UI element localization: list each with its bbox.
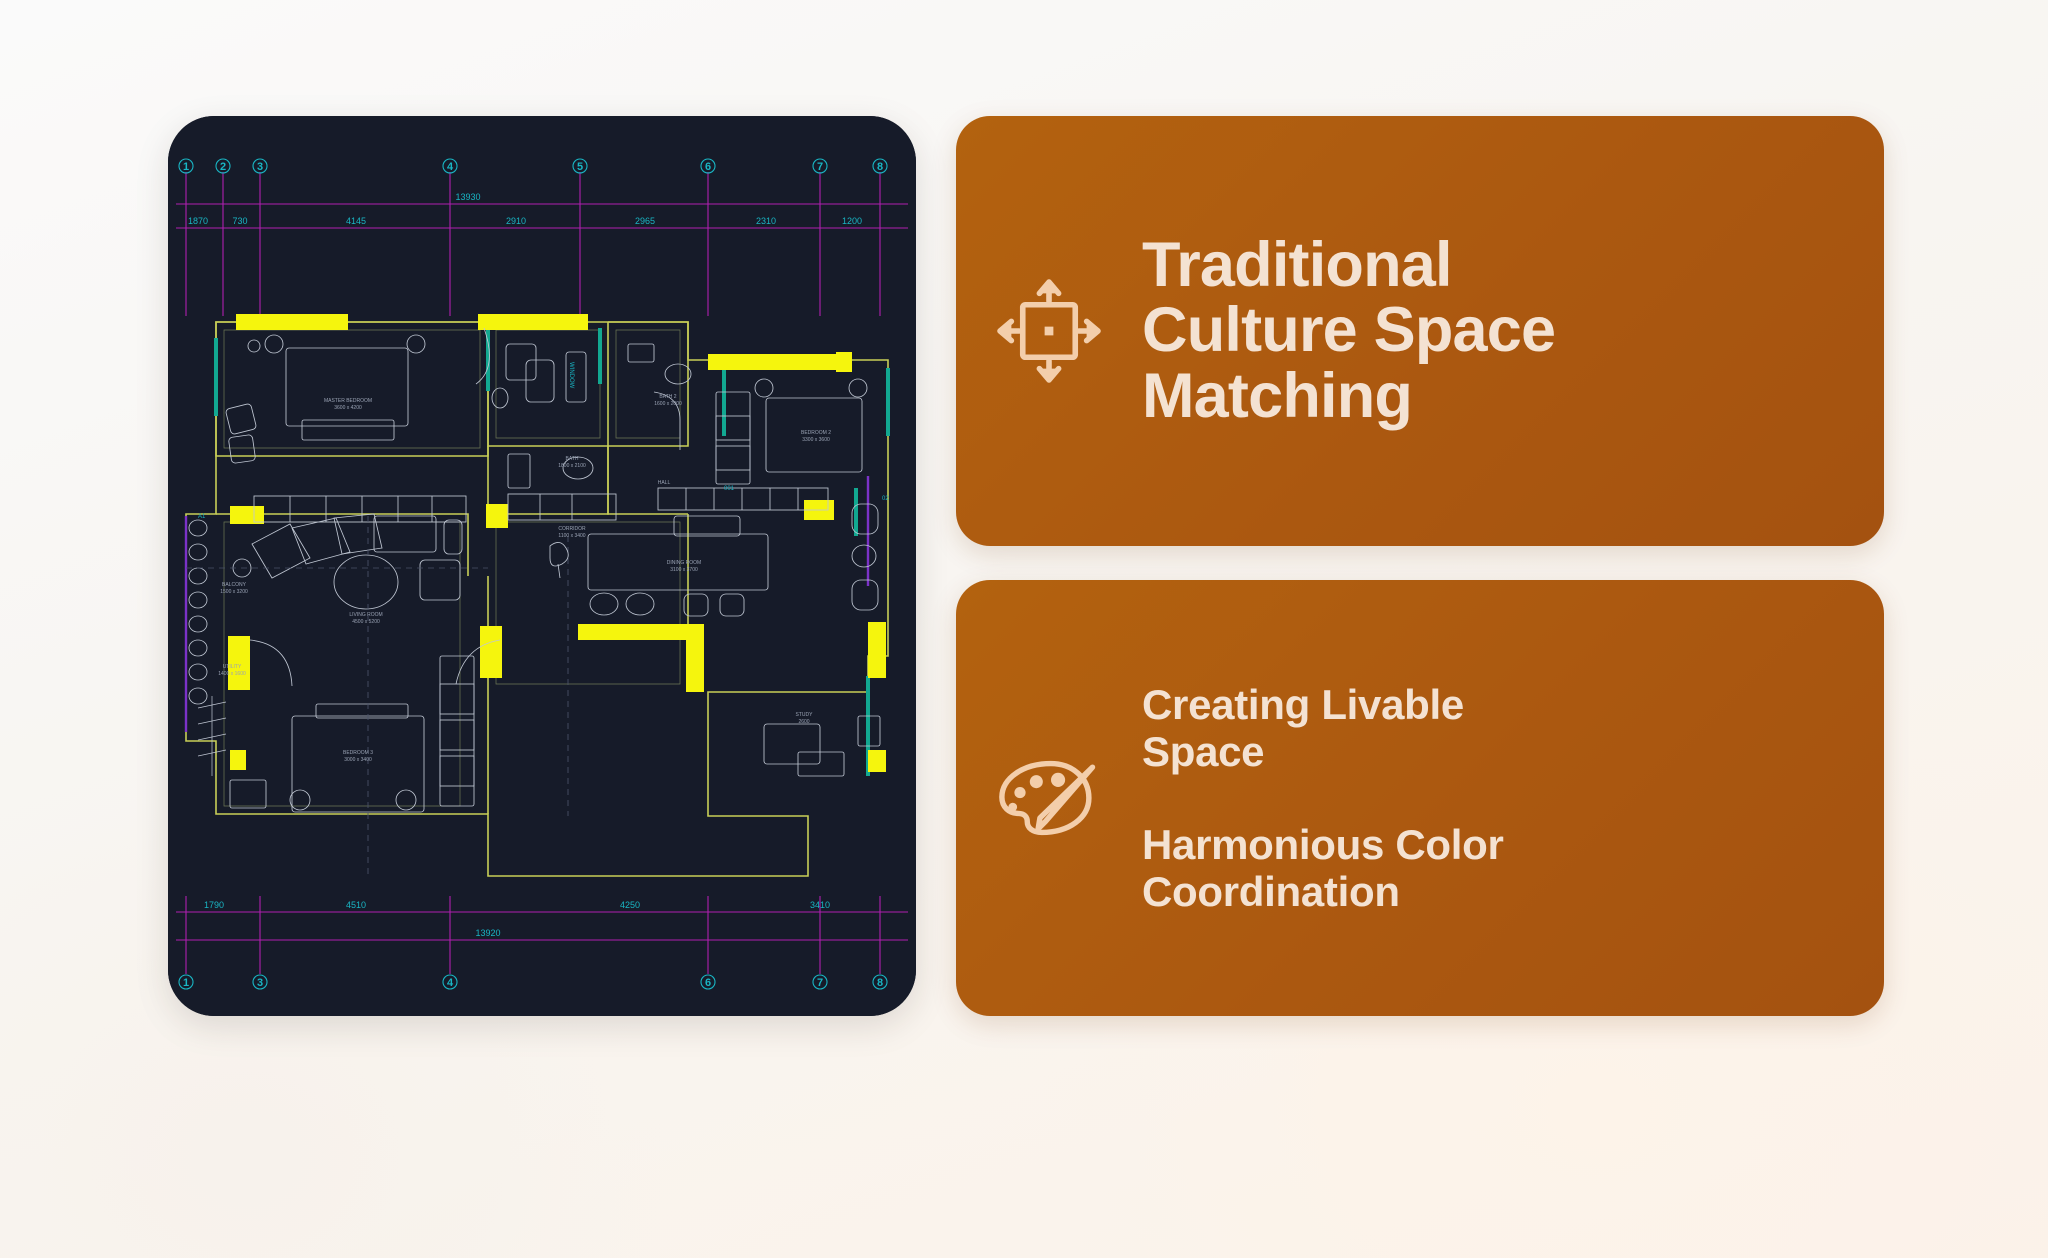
svg-text:UTILITY: UTILITY	[223, 664, 242, 670]
sub-block-livable-space: Creating Livable Space	[1142, 681, 1828, 775]
sub-line-4: Coordination	[1142, 868, 1828, 915]
svg-text:3100 x 3700: 3100 x 3700	[670, 567, 698, 573]
svg-text:4: 4	[447, 161, 454, 173]
svg-text:3: 3	[257, 161, 263, 173]
svg-text:3000 x 3400: 3000 x 3400	[344, 757, 372, 763]
svg-text:4: 4	[447, 977, 454, 989]
floor-plan-drawing: 12 34 56 78 13930 1870 730 4145 2910 296…	[168, 116, 916, 1016]
svg-text:3600 x 4200: 3600 x 4200	[334, 405, 362, 411]
card-traditional-culture-space-matching[interactable]: Traditional Culture Space Matching	[956, 116, 1884, 546]
svg-text:BALCONY: BALCONY	[222, 582, 247, 588]
svg-text:LIVING ROOM: LIVING ROOM	[349, 612, 382, 618]
palette-icon	[956, 740, 1142, 856]
svg-text:5: 5	[577, 161, 583, 173]
sub-line-3: Harmonious Color	[1142, 821, 1828, 868]
svg-text:A1: A1	[198, 514, 206, 520]
sub-line-1: Creating Livable	[1142, 681, 1828, 728]
svg-text:1: 1	[183, 977, 189, 989]
svg-text:8: 8	[877, 977, 883, 989]
svg-text:3: 3	[257, 977, 263, 989]
svg-text:1500 x 3200: 1500 x 3200	[220, 589, 248, 595]
svg-text:BEDROOM 2: BEDROOM 2	[801, 430, 831, 436]
svg-text:BATH 2: BATH 2	[659, 394, 676, 400]
card-body: Creating Livable Space Harmonious Color …	[1142, 681, 1884, 915]
svg-text:001: 001	[724, 486, 735, 492]
svg-text:1400 x 1600: 1400 x 1600	[218, 671, 246, 677]
svg-text:2600: 2600	[798, 719, 809, 725]
svg-text:1100 x 3400: 1100 x 3400	[558, 533, 585, 539]
svg-text:STUDY: STUDY	[796, 712, 814, 718]
svg-text:13920: 13920	[475, 928, 500, 938]
svg-text:4250: 4250	[620, 900, 640, 910]
svg-text:1: 1	[183, 161, 189, 173]
floor-plan-panel[interactable]: 12 34 56 78 13930 1870 730 4145 2910 296…	[168, 116, 916, 1016]
move-expand-icon	[956, 275, 1142, 387]
svg-text:WINDOW: WINDOW	[568, 362, 574, 389]
svg-text:2910: 2910	[506, 216, 526, 226]
svg-text:1600 x 2000: 1600 x 2000	[654, 401, 682, 407]
svg-text:2: 2	[220, 161, 226, 173]
svg-text:2965: 2965	[635, 216, 655, 226]
card-title-line-3: Matching	[1142, 364, 1828, 430]
sub-block-color-coordination: Harmonious Color Coordination	[1142, 821, 1828, 915]
svg-text:DINING ROOM: DINING ROOM	[667, 560, 701, 566]
svg-text:BATH: BATH	[566, 456, 579, 462]
svg-text:6: 6	[705, 161, 711, 173]
card-harmonious-color-coordination[interactable]: Creating Livable Space Harmonious Color …	[956, 580, 1884, 1016]
card-title-line-1: Traditional	[1142, 233, 1828, 299]
svg-text:BEDROOM 3: BEDROOM 3	[343, 750, 373, 756]
svg-text:7: 7	[817, 161, 823, 173]
svg-text:1790: 1790	[204, 900, 224, 910]
svg-text:730: 730	[232, 216, 247, 226]
svg-text:4500 x 5200: 4500 x 5200	[352, 619, 380, 625]
svg-text:02: 02	[882, 496, 889, 502]
svg-text:1870: 1870	[188, 216, 208, 226]
card-title-line-2: Culture Space	[1142, 298, 1828, 364]
svg-text:MASTER BEDROOM: MASTER BEDROOM	[324, 398, 372, 404]
svg-text:3300 x 3600: 3300 x 3600	[802, 437, 830, 443]
svg-text:2310: 2310	[756, 216, 776, 226]
card-body: Traditional Culture Space Matching	[1142, 233, 1884, 430]
svg-text:8: 8	[877, 161, 883, 173]
svg-text:7: 7	[817, 977, 823, 989]
svg-text:4145: 4145	[346, 216, 366, 226]
svg-text:4510: 4510	[346, 900, 366, 910]
sub-line-2: Space	[1142, 728, 1828, 775]
svg-text:HALL: HALL	[658, 480, 671, 486]
svg-text:13930: 13930	[455, 192, 480, 202]
svg-text:1800 x 2100: 1800 x 2100	[558, 463, 586, 469]
svg-text:1200: 1200	[842, 216, 862, 226]
svg-text:CORRIDOR: CORRIDOR	[558, 526, 586, 532]
svg-text:6: 6	[705, 977, 711, 989]
